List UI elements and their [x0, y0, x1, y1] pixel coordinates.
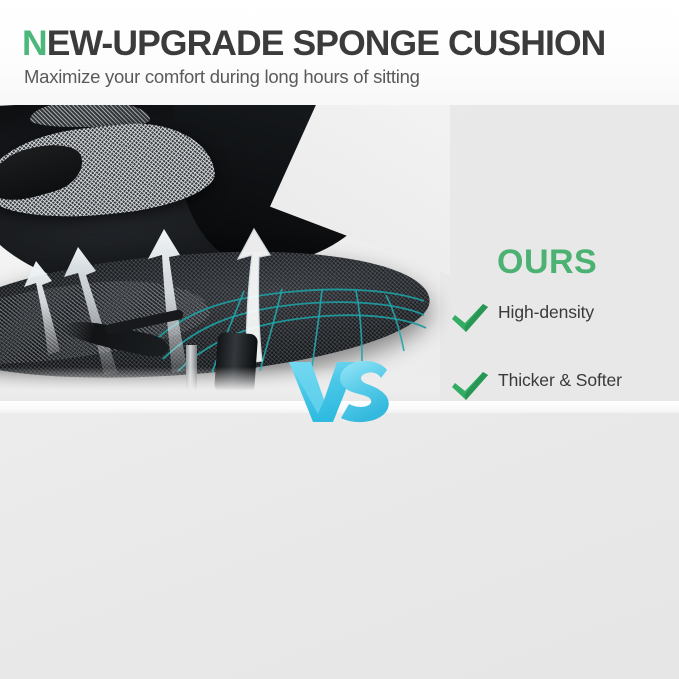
header-banner: NEW-UPGRADE SPONGE CUSHION Maximize your… — [0, 0, 679, 105]
check-icon — [450, 370, 490, 401]
list-item-label: Thicker & Softer — [498, 369, 679, 391]
list-item: High-density — [450, 301, 679, 341]
others-panel: OTHERS Easy to deform Thin & Hard No mes… — [0, 413, 679, 679]
list-item: Thicker & Softer — [450, 369, 679, 401]
check-icon — [450, 302, 490, 334]
ours-panel: OURS High-density Thicker & Softer — [0, 105, 679, 401]
ours-cushion-closeup-photo — [0, 105, 440, 401]
title-accent-letter: N — [22, 23, 47, 63]
page-subtitle: Maximize your comfort during long hours … — [24, 66, 420, 88]
ours-feature-list: High-density Thicker & Softer Breathable… — [450, 301, 679, 401]
page-title: NEW-UPGRADE SPONGE CUSHION — [22, 23, 605, 64]
ours-heading: OURS — [497, 243, 597, 282]
title-rest: EW-UPGRADE SPONGE CUSHION — [47, 23, 606, 63]
infographic-page: NEW-UPGRADE SPONGE CUSHION Maximize your… — [0, 0, 679, 679]
vs-badge: VS — [283, 358, 393, 424]
list-item-label: High-density — [498, 301, 679, 323]
